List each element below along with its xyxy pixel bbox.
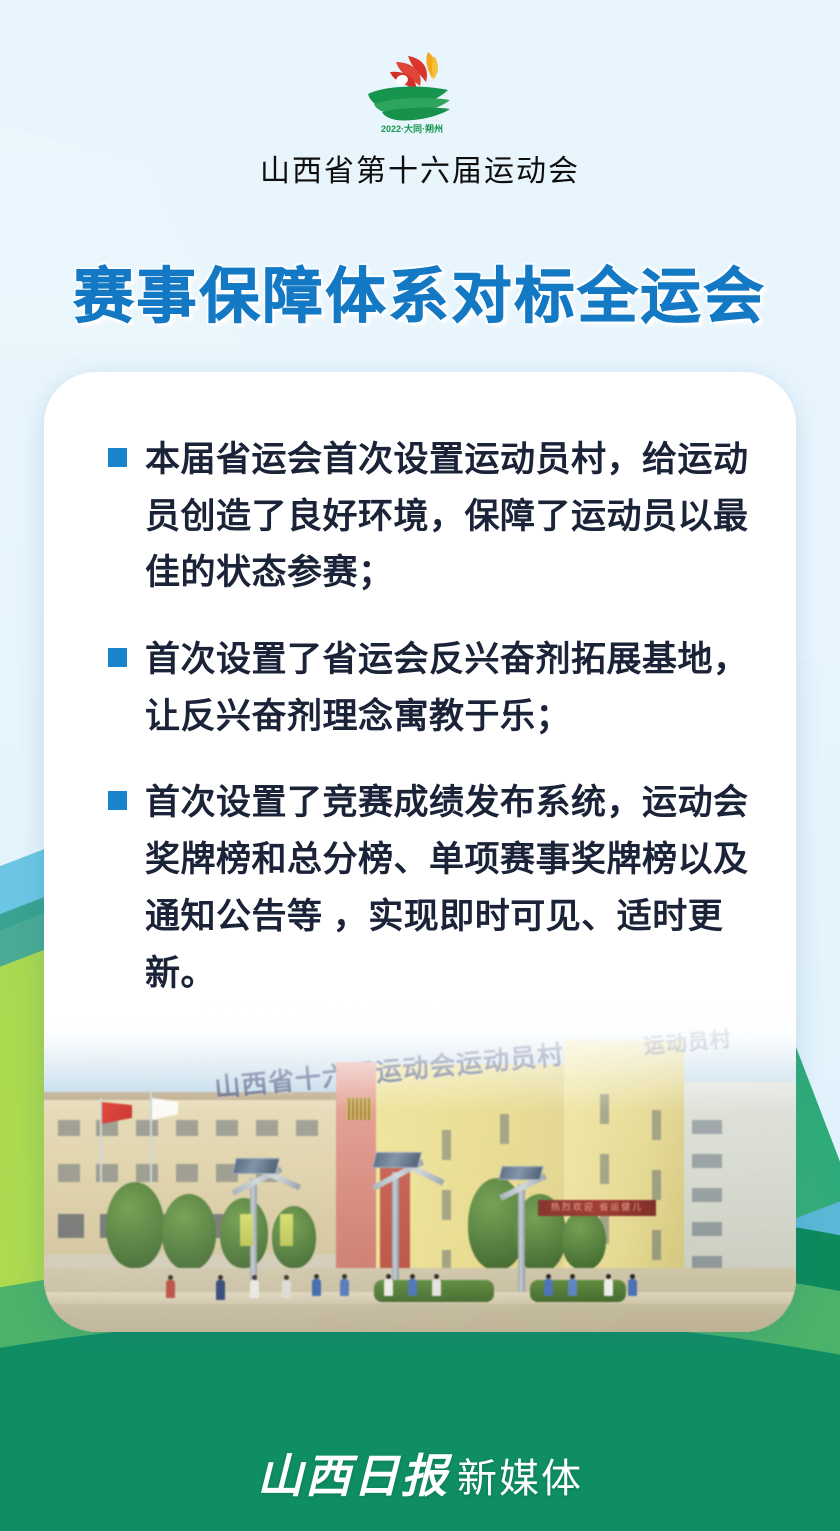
lamp-banner-box <box>240 1214 253 1246</box>
window <box>692 1188 722 1202</box>
flag-pole <box>150 1092 152 1184</box>
list-item: 首次设置了竞赛成绩发布系统，运动会奖牌榜和总分榜、单项赛事奖牌榜以及通知公告等 … <box>66 775 758 1002</box>
window <box>256 1120 278 1136</box>
list-item: 首次设置了省运会反兴奋剂拓展基地，让反兴奋剂理念寓教于乐； <box>66 632 758 745</box>
window <box>58 1120 80 1136</box>
person <box>568 1274 577 1296</box>
person <box>340 1274 349 1296</box>
window <box>136 1164 158 1182</box>
person <box>432 1274 441 1296</box>
window <box>136 1120 158 1136</box>
tree <box>106 1182 164 1268</box>
window <box>692 1154 722 1168</box>
person <box>604 1274 613 1296</box>
page-subtitle: 山西省第十六届运动会 <box>0 146 840 190</box>
games-emblem-icon: 2022·大同·朔州 <box>350 46 490 138</box>
window <box>176 1120 198 1136</box>
window <box>692 1120 722 1134</box>
person <box>544 1274 553 1296</box>
person <box>216 1275 225 1300</box>
led-banner-text: 热烈欢迎 省运健儿 <box>538 1200 656 1214</box>
publisher-name: 山西日报 <box>257 1451 449 1502</box>
flag-pole <box>100 1098 102 1184</box>
window <box>442 1190 451 1220</box>
solar-panel <box>372 1152 422 1168</box>
bullet-list: 本届省运会首次设置运动员村，给运动员创造了良好环境，保障了运动员以最佳的状态参赛… <box>44 432 796 1002</box>
emblem-year-text: 2022·大同·朔州 <box>381 123 443 134</box>
content-card: 本届省运会首次设置运动员村，给运动员创造了良好环境，保障了运动员以最佳的状态参赛… <box>44 372 796 1332</box>
window <box>500 1114 509 1144</box>
solar-panel <box>498 1166 543 1180</box>
list-item-text: 首次设置了竞赛成绩发布系统，运动会奖牌榜和总分榜、单项赛事奖牌榜以及通知公告等 … <box>145 775 758 1002</box>
list-item-text: 本届省运会首次设置运动员村，给运动员创造了良好环境，保障了运动员以最佳的状态参赛… <box>145 432 758 602</box>
window <box>442 1130 451 1160</box>
window <box>296 1120 318 1136</box>
bullet-square-icon <box>108 648 127 667</box>
window <box>652 1230 661 1260</box>
window <box>176 1164 198 1182</box>
list-item-text: 首次设置了省运会反兴奋剂拓展基地，让反兴奋剂理念寓教于乐； <box>145 632 758 745</box>
emblem-svg: 2022·大同·朔州 <box>350 46 490 138</box>
window <box>652 1170 661 1200</box>
solar-panel <box>232 1158 280 1174</box>
led-banner: 热烈欢迎 省运健儿 <box>538 1200 656 1216</box>
tree <box>162 1194 216 1270</box>
window <box>692 1222 722 1236</box>
window <box>600 1154 609 1184</box>
photo-top-fade <box>44 1002 796 1112</box>
street-lamp-pole <box>518 1184 525 1300</box>
publisher-sub: 新媒体 <box>457 1457 583 1501</box>
bullet-square-icon <box>108 448 127 467</box>
window <box>58 1164 80 1182</box>
lamp-banner-box <box>280 1214 293 1246</box>
athlete-village-photo: 热烈欢迎 省运健儿 山西省十六届运动会运动员村 运动员村 <box>44 1002 796 1332</box>
person <box>408 1274 417 1296</box>
poster-root: 2022·大同·朔州 山西省第十六届运动会 赛事保障体系对标全运会 本届省运会首… <box>0 0 840 1531</box>
person <box>312 1274 321 1296</box>
tree <box>562 1210 606 1270</box>
person <box>628 1274 637 1296</box>
window <box>58 1214 84 1238</box>
person <box>282 1275 291 1298</box>
window <box>216 1120 238 1136</box>
person <box>250 1275 259 1298</box>
list-item: 本届省运会首次设置运动员村，给运动员创造了良好环境，保障了运动员以最佳的状态参赛… <box>66 432 758 602</box>
person <box>166 1275 175 1298</box>
bullet-square-icon <box>108 791 127 810</box>
page-title: 赛事保障体系对标全运会 <box>0 248 840 335</box>
publisher-logo: 山西日报新媒体 <box>0 1440 840 1506</box>
window <box>652 1110 661 1140</box>
tree <box>272 1206 316 1268</box>
person <box>384 1274 393 1296</box>
